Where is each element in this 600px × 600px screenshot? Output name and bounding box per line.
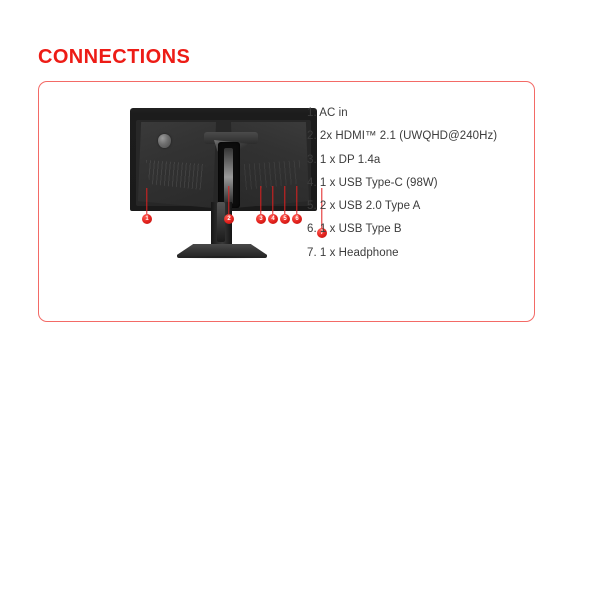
list-item: 6. 1 x USB Type B bbox=[307, 222, 517, 237]
callout-leader-line bbox=[272, 186, 273, 214]
callout-leader-line bbox=[284, 186, 285, 214]
list-item: 1. AC in bbox=[307, 106, 517, 121]
monitor-chassis bbox=[130, 108, 317, 211]
callout-badge: 4 bbox=[268, 214, 278, 224]
list-item: 3. 1 x DP 1.4a bbox=[307, 153, 517, 168]
dragon-shield-emblem-icon bbox=[158, 134, 171, 148]
monitor-product-image: 1234567 bbox=[89, 102, 324, 302]
callout-leader-line bbox=[146, 188, 147, 214]
connections-card: 1234567 1. AC in2. 2x HDMI™ 2.1 (UWQHD@2… bbox=[38, 81, 535, 322]
list-item: 2. 2x HDMI™ 2.1 (UWQHD@240Hz) bbox=[307, 129, 517, 144]
callout-leader-line bbox=[296, 186, 297, 214]
callout-badge: 1 bbox=[142, 214, 152, 224]
callout-leader-line bbox=[228, 186, 229, 214]
monitor-stand-shadow bbox=[177, 256, 267, 260]
page-title: CONNECTIONS bbox=[38, 45, 190, 69]
callout-badge: 3 bbox=[256, 214, 266, 224]
monitor-stand-slot bbox=[217, 202, 225, 242]
callout-badge: 6 bbox=[292, 214, 302, 224]
callout-badge: 5 bbox=[280, 214, 290, 224]
list-item: 5. 2 x USB 2.0 Type A bbox=[307, 199, 517, 214]
list-item: 7. 1 x Headphone bbox=[307, 246, 517, 261]
callout-leader-line bbox=[260, 186, 261, 214]
callout-badge: 2 bbox=[224, 214, 234, 224]
connections-spec-list: 1. AC in2. 2x HDMI™ 2.1 (UWQHD@240Hz)3. … bbox=[307, 106, 517, 261]
list-item: 4. 1 x USB Type-C (98W) bbox=[307, 176, 517, 191]
